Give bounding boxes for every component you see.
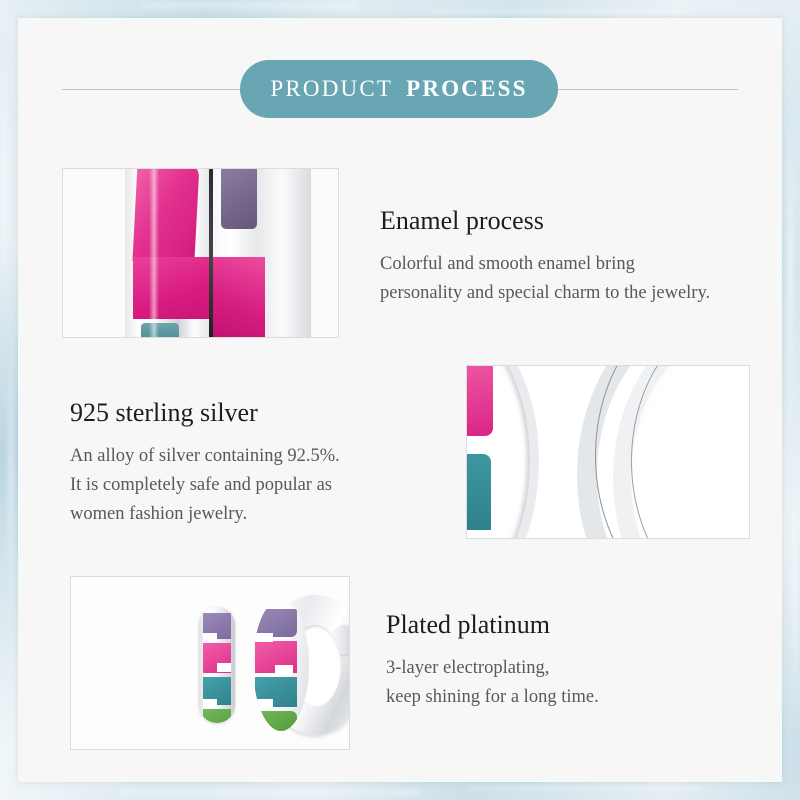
hoop-seam-inner xyxy=(631,365,750,539)
banner-rule-right xyxy=(558,89,738,90)
sterling-silver-photo xyxy=(466,365,750,539)
silver-notch xyxy=(255,633,273,642)
section-heading-plated-platinum: Plated platinum xyxy=(386,610,599,640)
silver-notch xyxy=(203,633,217,642)
section-body-line: women fashion jewelry. xyxy=(70,500,340,529)
content-card: PRODUCT PROCESS Enamel process Colorful … xyxy=(18,18,782,782)
marble-streak xyxy=(430,10,690,14)
enamel-pink-upper xyxy=(132,168,199,261)
title-word-product: PRODUCT xyxy=(270,76,393,102)
section-body-line: It is completely safe and popular as xyxy=(70,471,340,500)
section-heading-sterling-silver: 925 sterling silver xyxy=(70,398,340,428)
silver-notch xyxy=(255,699,273,709)
silver-reflection-line xyxy=(209,168,213,338)
marble-streak xyxy=(140,3,360,8)
ring-enamel-face xyxy=(253,599,309,731)
plated-platinum-text: Plated platinum 3-layer electroplating, … xyxy=(386,610,599,712)
section-body-line: Colorful and smooth enamel bring xyxy=(380,250,710,279)
header-banner: PRODUCT PROCESS xyxy=(18,60,782,120)
section-body-line: keep shining for a long time. xyxy=(386,683,599,712)
silver-notch xyxy=(217,663,231,672)
section-body-line: An alloy of silver containing 92.5%. xyxy=(70,442,340,471)
earring-pair-image xyxy=(71,577,349,749)
sterling-silver-text: 925 sterling silver An alloy of silver c… xyxy=(70,398,340,529)
section-heading-enamel: Enamel process xyxy=(380,206,710,236)
hoop-thin-arc xyxy=(466,365,539,539)
marble-streak xyxy=(788,120,793,450)
page-title: PRODUCT PROCESS xyxy=(240,60,558,118)
silver-notch xyxy=(275,665,293,675)
enamel-teal-peek xyxy=(141,323,179,338)
marble-streak xyxy=(9,330,13,630)
earring-angled-view xyxy=(247,595,350,735)
enamel-macro-image xyxy=(63,169,338,337)
banner-rule-left xyxy=(62,89,246,90)
section-body-line: 3-layer electroplating, xyxy=(386,654,599,683)
enamel-process-text: Enamel process Colorful and smooth ename… xyxy=(380,206,710,308)
enamel-process-photo xyxy=(62,168,339,338)
plated-platinum-photo xyxy=(70,576,350,750)
marble-streak xyxy=(120,790,420,795)
marble-streak xyxy=(793,470,797,720)
title-word-process: PROCESS xyxy=(406,76,527,102)
silver-hoop-macro-image xyxy=(467,366,749,538)
silver-notch xyxy=(203,699,217,708)
enamel-pink-right xyxy=(213,257,265,338)
marble-streak xyxy=(470,786,700,790)
earring-edge-view xyxy=(199,607,235,723)
silver-gloss-highlight xyxy=(149,168,159,338)
poster-background: PRODUCT PROCESS Enamel process Colorful … xyxy=(0,0,800,800)
enamel-segment-green xyxy=(203,709,231,723)
enamel-segment-green xyxy=(255,711,297,731)
section-body-line: personality and special charm to the jew… xyxy=(380,279,710,308)
marble-streak xyxy=(2,60,7,320)
enamel-purple-block xyxy=(221,168,257,229)
